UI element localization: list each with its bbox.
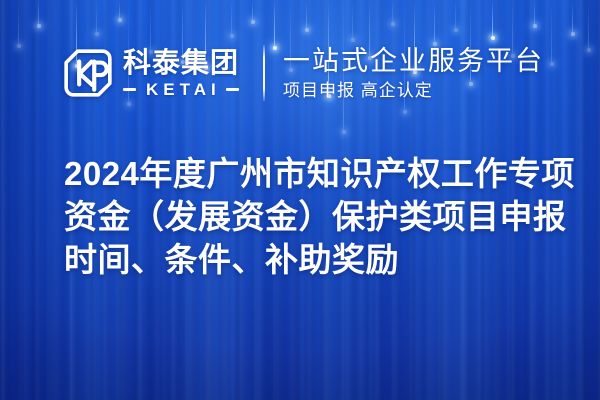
dash-right-icon [226,88,239,91]
light-particle [492,0,493,38]
title-line-1: 2024年度广州市知识产权工作专项 [64,152,584,195]
promo-banner: 科泰集团 KETAI 一站式企业服务平台 项目申报 高企认定 2024年度广州市… [0,0,600,400]
brand-name-cn: 科泰集团 [123,48,239,78]
light-particle [534,0,535,26]
light-particle [119,0,120,20]
header-divider [263,45,265,101]
light-particle [231,0,232,36]
brand-name-en: KETAI [141,81,221,98]
dash-left-icon [123,88,136,91]
light-particle [252,0,253,22]
banner-header: 科泰集团 KETAI 一站式企业服务平台 项目申报 高企认定 [0,34,600,112]
tagline-main: 一站式企业服务平台 [283,46,544,77]
light-particle [392,0,393,24]
light-particle [455,0,456,30]
ketai-diamond-monogram-icon [62,47,114,99]
brand-wordmark: 科泰集团 KETAI [123,48,239,98]
light-particle [572,0,573,34]
brand-name-en-row: KETAI [123,81,239,98]
light-particle [38,0,39,26]
light-particle [306,0,307,30]
title-line-3: 时间、条件、补助奖励 [64,238,584,281]
brand-logo[interactable]: 科泰集团 KETAI [62,47,239,99]
light-particle [96,0,97,34]
title-line-2: 资金（发展资金）保护类项目申报 [64,195,584,238]
tagline-sub: 项目申报 高企认定 [283,81,544,101]
page-title: 2024年度广州市知识产权工作专项 资金（发展资金）保护类项目申报 时间、条件、… [64,152,584,281]
tagline-block: 一站式企业服务平台 项目申报 高企认定 [283,46,544,101]
